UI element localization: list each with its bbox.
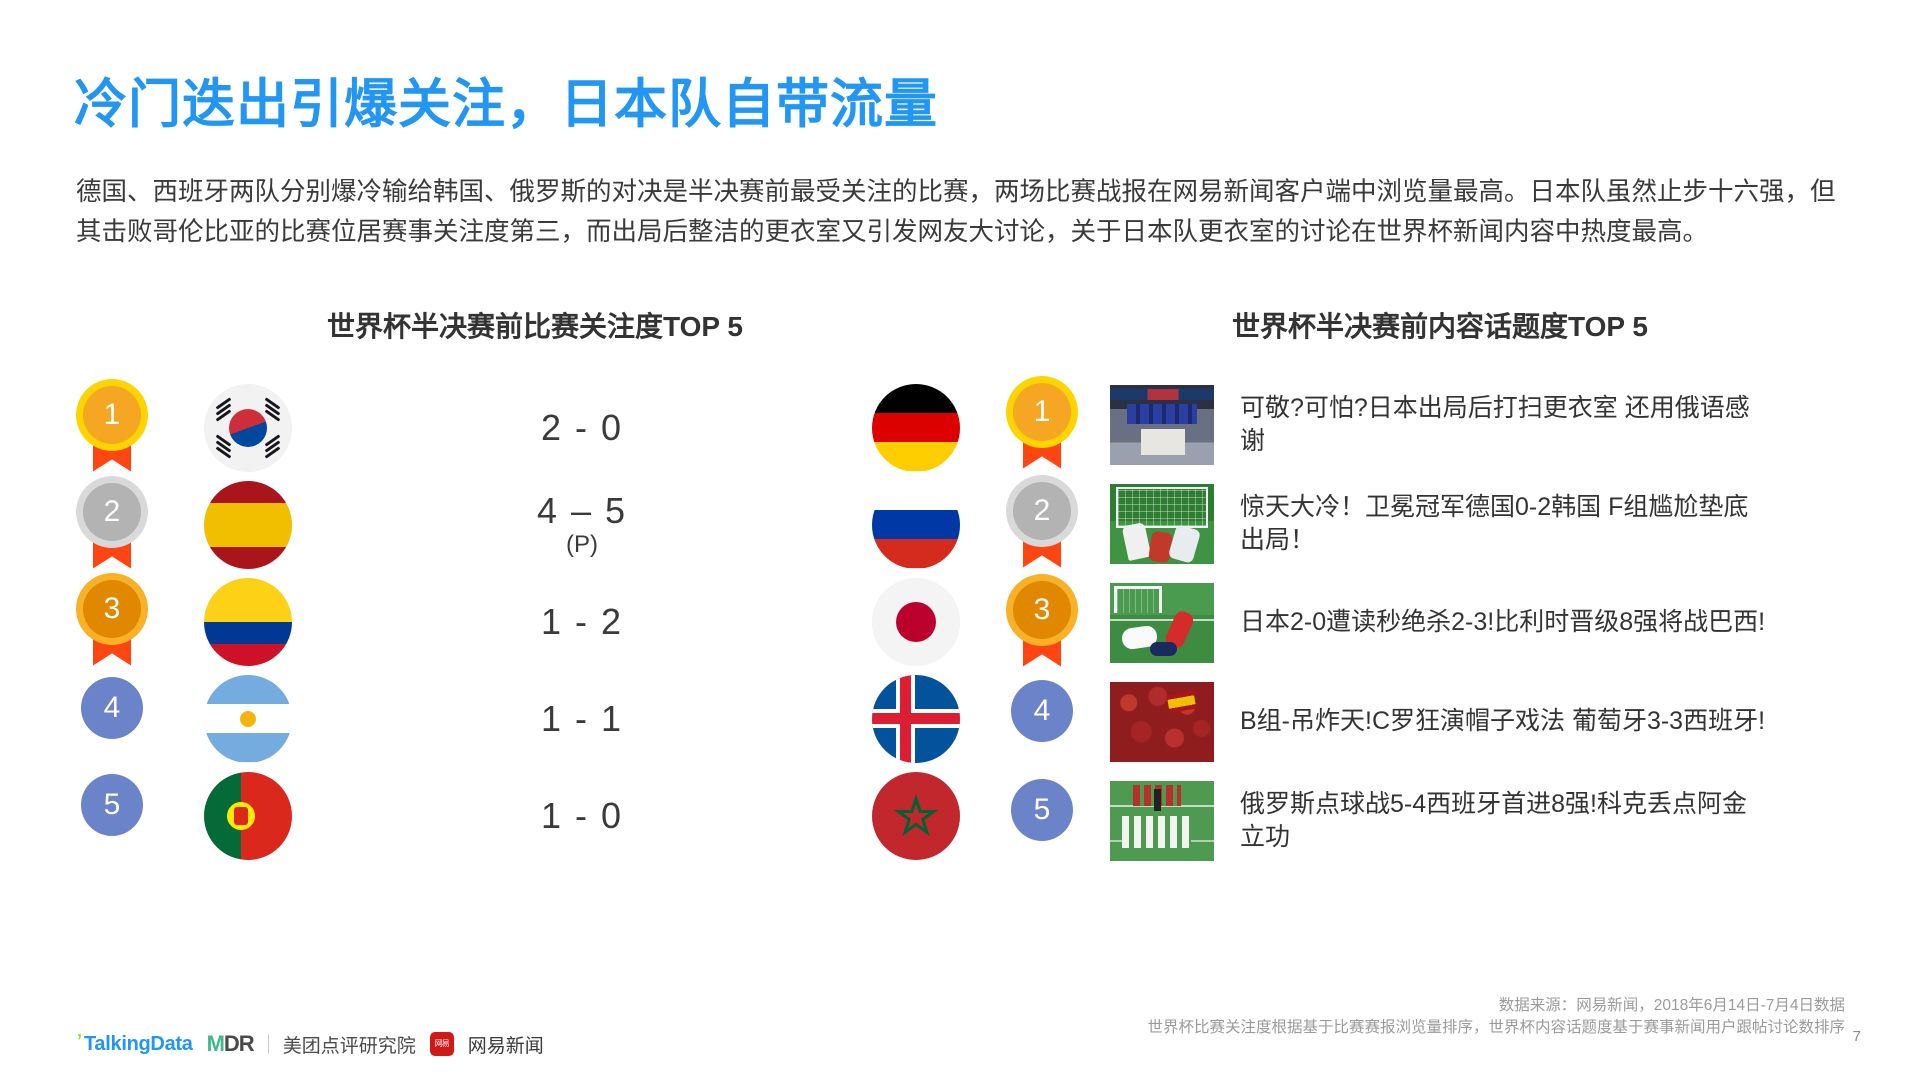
- rank-badge: 3: [1010, 581, 1074, 665]
- table-row[interactable]: 4 1 - 1: [80, 670, 960, 767]
- list-item[interactable]: 5 俄罗斯点球战5-4西班牙首进8强!科克丢点阿金立功: [1010, 771, 1870, 870]
- meituan-institute-logo: 美团点评研究院: [283, 1031, 416, 1058]
- goalmouth-photo[interactable]: [1110, 484, 1214, 564]
- netease-news-logo: 网易新闻: [468, 1031, 544, 1058]
- rank-badge: 5: [80, 774, 144, 858]
- list-item[interactable]: 2 惊天大冷！卫冕冠军德国0-2韩国 F组尴尬垫底出局！: [1010, 474, 1870, 573]
- data-source-line-1: 数据来源：网易新闻，2018年6月14日-7月4日数据: [1499, 993, 1845, 1015]
- right-panel: 世界杯半决赛前内容话题度TOP 5 1 可敬?可怕?日本出局后打扫更衣室 还用俄…: [1010, 305, 1870, 870]
- rank-badge: 1: [1010, 383, 1074, 467]
- portugal-flag-icon: [204, 772, 292, 860]
- celebration-photo[interactable]: [1110, 781, 1214, 861]
- rank-number: 3: [1013, 581, 1071, 639]
- match-score: 2 - 0: [292, 409, 872, 447]
- iceland-flag-icon: [872, 675, 960, 763]
- topic-list: 1 可敬?可怕?日本出局后打扫更衣室 还用俄语感谢 2 惊天大冷！卫冕冠军德国0…: [1010, 375, 1870, 870]
- footer-logos: TalkingData MDR 美团点评研究院 网易 网易新闻: [84, 1028, 544, 1060]
- rank-badge: 4: [1010, 680, 1074, 764]
- score-value: 2 - 0: [541, 407, 623, 448]
- rank-number: 1: [83, 386, 141, 444]
- list-item[interactable]: 3 日本2-0遭读秒绝杀2-3!比利时晋级8强将战巴西!: [1010, 573, 1870, 672]
- table-row[interactable]: 5 1 - 0 ★: [80, 767, 960, 864]
- rank-badge: 2: [80, 483, 144, 567]
- south-korea-flag-icon: [204, 384, 292, 472]
- crowd-photo[interactable]: [1110, 682, 1214, 762]
- spain-flag-icon: [204, 481, 292, 569]
- score-value: 1 - 1: [541, 698, 623, 739]
- list-item-label: 俄罗斯点球战5-4西班牙首进8强!科克丢点阿金立功: [1240, 788, 1770, 854]
- table-row[interactable]: 1: [80, 379, 960, 476]
- rank-number: 1: [1013, 383, 1071, 441]
- page-number: 7: [1853, 1028, 1861, 1045]
- mdr-letter-m: M: [207, 1031, 224, 1056]
- page-title: 冷门迭出引爆关注，日本队自带流量: [74, 62, 938, 138]
- germany-flag-icon: [872, 384, 960, 472]
- locker-room-photo[interactable]: [1110, 385, 1214, 465]
- rank-number: 2: [1013, 482, 1071, 540]
- match-score: 1 - 0: [292, 797, 872, 835]
- rank-number: 5: [81, 774, 143, 836]
- penalty-note: (P): [292, 532, 872, 557]
- morocco-flag-icon: ★: [872, 772, 960, 860]
- russia-flag-icon: [872, 481, 960, 569]
- match-score: 4 – 5 (P): [292, 492, 872, 557]
- match-list: 1: [80, 379, 960, 864]
- rank-number: 4: [1011, 680, 1073, 742]
- left-panel: 世界杯半决赛前比赛关注度TOP 5 1: [80, 305, 960, 864]
- rank-badge: 2: [1010, 482, 1074, 566]
- score-value: 1 - 0: [541, 795, 623, 836]
- mdr-logo: MDR: [207, 1031, 254, 1057]
- list-item[interactable]: 1 可敬?可怕?日本出局后打扫更衣室 还用俄语感谢: [1010, 375, 1870, 474]
- left-panel-heading: 世界杯半决赛前比赛关注度TOP 5: [110, 305, 960, 345]
- page-description: 德国、西班牙两队分别爆冷输给韩国、俄罗斯的对决是半决赛前最受关注的比赛，两场比赛…: [76, 172, 1846, 252]
- logo-divider: [268, 1034, 269, 1054]
- slide-root: 冷门迭出引爆关注，日本队自带流量 德国、西班牙两队分别爆冷输给韩国、俄罗斯的对决…: [0, 0, 1921, 1080]
- rank-badge: 4: [80, 677, 144, 761]
- rank-number: 3: [83, 580, 141, 638]
- right-panel-heading: 世界杯半决赛前内容话题度TOP 5: [1010, 305, 1870, 345]
- score-value: 1 - 2: [541, 601, 623, 642]
- argentina-flag-icon: [204, 675, 292, 763]
- rank-number: 2: [83, 483, 141, 541]
- colombia-flag-icon: [204, 578, 292, 666]
- table-row[interactable]: 2 4 – 5 (P): [80, 476, 960, 573]
- list-item-label: B组-吊炸天!C罗狂演帽子戏法 葡萄牙3-3西班牙!: [1240, 705, 1765, 738]
- rank-number: 5: [1011, 779, 1073, 841]
- list-item-label: 可敬?可怕?日本出局后打扫更衣室 还用俄语感谢: [1240, 392, 1770, 458]
- rank-badge: 3: [80, 580, 144, 664]
- pitch-players-photo[interactable]: [1110, 583, 1214, 663]
- rank-badge: 1: [80, 386, 144, 470]
- rank-badge: 5: [1010, 779, 1074, 863]
- match-score: 1 - 2: [292, 603, 872, 641]
- list-item-label: 日本2-0遭读秒绝杀2-3!比利时晋级8强将战巴西!: [1240, 606, 1765, 639]
- match-score: 1 - 1: [292, 700, 872, 738]
- mdr-letter-r: R: [239, 1031, 254, 1056]
- japan-flag-icon: [872, 578, 960, 666]
- data-source-line-2: 世界杯比赛关注度根据基于比赛赛报浏览量排序，世界杯内容话题度基于赛事新闻用户跟帖…: [1147, 1015, 1845, 1037]
- rank-number: 4: [81, 677, 143, 739]
- netease-mark-icon: 网易: [430, 1032, 454, 1056]
- mdr-letter-d: D: [224, 1031, 239, 1056]
- talkingdata-logo: TalkingData: [84, 1033, 193, 1056]
- list-item[interactable]: 4 B组-吊炸天!C罗狂演帽子戏法 葡萄牙3-3西班牙!: [1010, 672, 1870, 771]
- table-row[interactable]: 3 1 - 2: [80, 573, 960, 670]
- list-item-label: 惊天大冷！卫冕冠军德国0-2韩国 F组尴尬垫底出局！: [1240, 491, 1770, 557]
- score-value: 4 – 5: [537, 490, 627, 531]
